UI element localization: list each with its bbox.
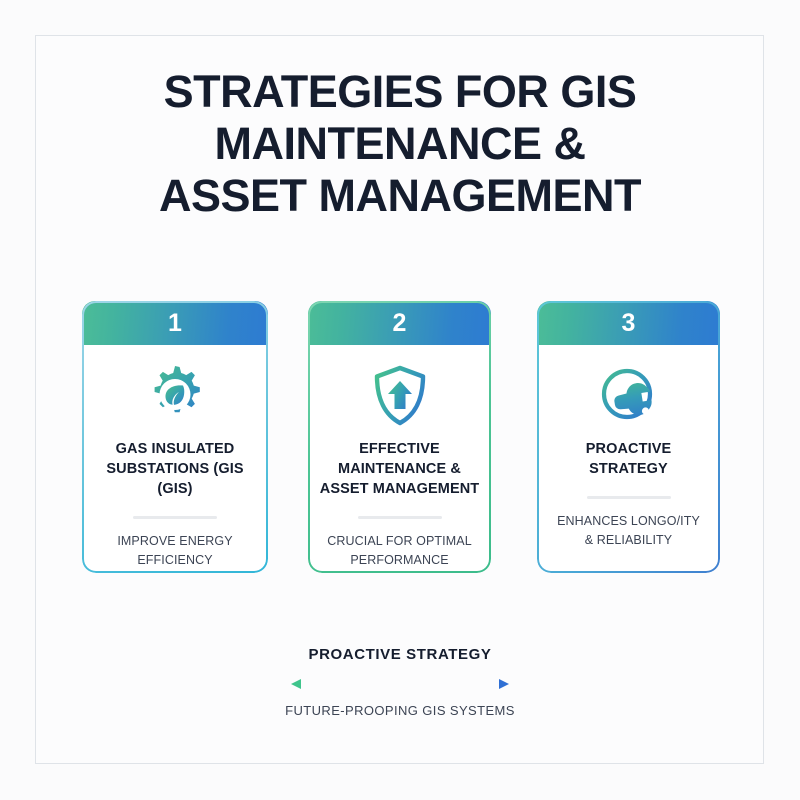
card-subtitle-2-line-2: PERFORMANCE	[312, 551, 487, 570]
strategy-card-2[interactable]: 2	[308, 301, 491, 573]
card-body-1: GAS INSULATED SUBSTATIONS (GIS (GIS) IMP…	[82, 345, 268, 570]
card-title-2: EFFECTIVE MAINTENANCE & ASSET MANAGEMENT	[312, 439, 487, 499]
card-title-2-line-2: MAINTENANCE &	[312, 459, 487, 479]
card-title-3-line-2: STRATEGY	[541, 459, 716, 479]
card-subtitle-2: CRUCIAL FOR OPTIMAL PERFORMANCE	[312, 532, 487, 570]
card-subtitle-1-line-2: EFFICIENCY	[86, 551, 264, 570]
strategy-card-3[interactable]: 3	[537, 301, 720, 573]
page-title-line-2: MAINTENANCE &	[70, 118, 730, 170]
page-title: STRATEGIES FOR GIS MAINTENANCE & ASSET M…	[70, 66, 730, 222]
card-subtitle-1-line-1: IMPROVE ENERGY	[86, 532, 264, 551]
gear-leaf-icon	[86, 359, 264, 433]
footer-title: PROACTIVE STRATEGY	[200, 646, 600, 663]
infographic-canvas: STRATEGIES FOR GIS MAINTENANCE & ASSET M…	[0, 0, 800, 800]
card-title-1-line-2: SUBSTATIONS (GIS	[86, 459, 264, 479]
strategy-card-1[interactable]: 1	[82, 301, 268, 573]
card-header-1: 1	[82, 301, 268, 345]
card-number-2: 2	[393, 311, 407, 336]
card-title-2-line-1: EFFECTIVE	[312, 439, 487, 459]
page-title-line-1: STRATEGIES FOR GIS	[70, 66, 730, 118]
card-divider-3	[587, 496, 671, 499]
card-divider-2	[358, 516, 442, 519]
card-title-2-line-3: ASSET MANAGEMENT	[312, 479, 487, 499]
card-subtitle-3-line-1: ENHANCES LONGO/ITY	[541, 512, 716, 531]
double-headed-arrow-icon	[200, 676, 600, 692]
card-body-2: EFFECTIVE MAINTENANCE & ASSET MANAGEMENT…	[308, 345, 491, 570]
card-number-1: 1	[168, 311, 182, 336]
card-subtitle-1: IMPROVE ENERGY EFFICIENCY	[86, 532, 264, 570]
card-subtitle-2-line-1: CRUCIAL FOR OPTIMAL	[312, 532, 487, 551]
card-divider-1	[133, 516, 217, 519]
card-title-1-line-3: (GIS)	[86, 479, 264, 499]
footer-subtitle: FUTURE-PROOPING GIS SYSTEMS	[200, 703, 600, 718]
clock-wrench-icon	[541, 359, 716, 433]
card-body-3: PROACTIVE STRATEGY ENHANCES LONGO/ITY & …	[537, 345, 720, 550]
card-header-2: 2	[308, 301, 491, 345]
card-subtitle-3-line-2: & RELIABILITY	[541, 531, 716, 550]
card-number-3: 3	[622, 311, 636, 336]
strategy-card-list: 1	[82, 301, 720, 573]
card-title-1-line-1: GAS INSULATED	[86, 439, 264, 459]
page-title-line-3: ASSET MANAGEMENT	[70, 170, 730, 222]
card-title-3-line-1: PROACTIVE	[541, 439, 716, 459]
card-title-1: GAS INSULATED SUBSTATIONS (GIS (GIS)	[86, 439, 264, 499]
card-header-3: 3	[537, 301, 720, 345]
card-title-3: PROACTIVE STRATEGY	[541, 439, 716, 479]
shield-up-arrow-icon	[312, 359, 487, 433]
card-subtitle-3: ENHANCES LONGO/ITY & RELIABILITY	[541, 512, 716, 550]
footer-section: PROACTIVE STRATEGY FUTURE-PROOPING GIS S…	[200, 646, 600, 718]
